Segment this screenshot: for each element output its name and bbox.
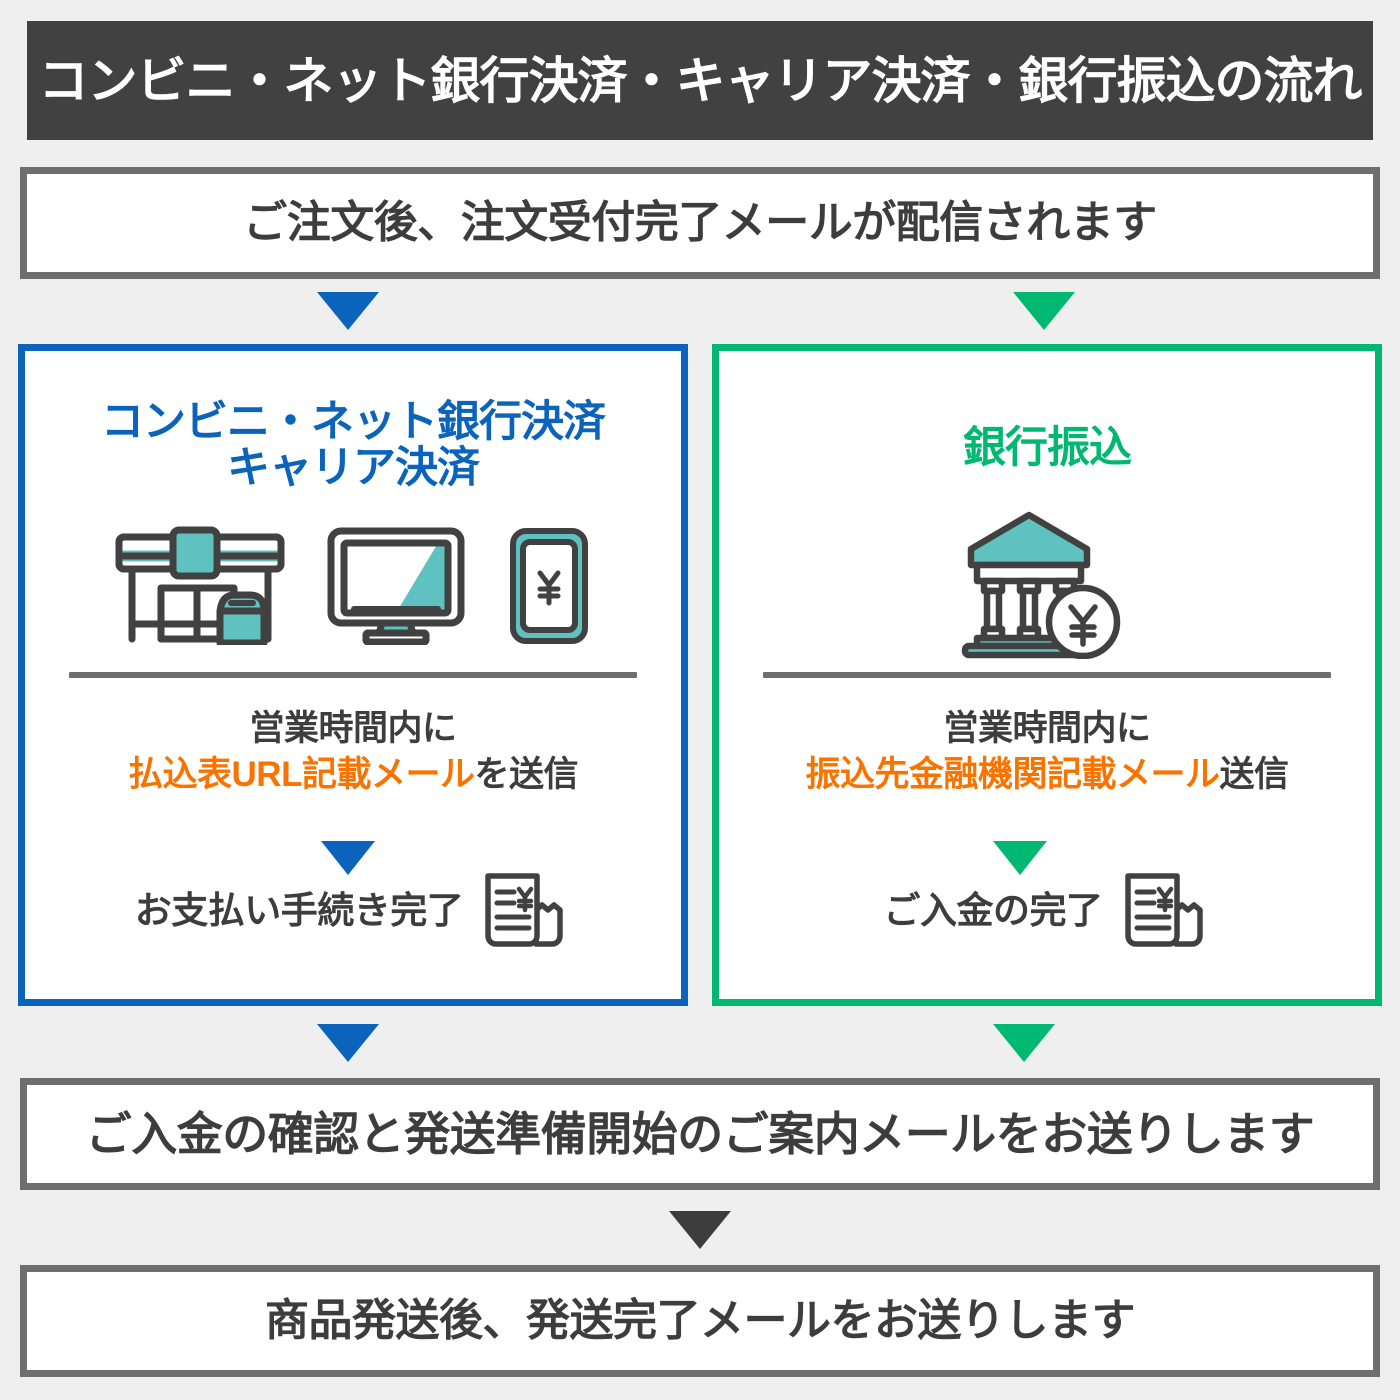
cvs-divider [69, 672, 637, 678]
step-payment-confirmed-label: ご入金の確認と発送準備開始のご案内メールをお送りします [86, 1111, 1315, 1157]
cvs-note-tail: を送信 [474, 755, 578, 794]
arrow-down-icon-cvs-to-confirm [317, 1024, 379, 1062]
bank-icon-row [719, 509, 1375, 659]
cvs-note-line1: 営業時間内に [25, 706, 681, 752]
step-shipped-label: 商品発送後、発送完了メールをお送りします [265, 1299, 1135, 1343]
panel-heading-bank: 銀行振込 [719, 425, 1375, 471]
panel-heading-cvs-line2: キャリア決済 [25, 445, 681, 491]
cvs-note-line2: 払込表URL記載メールを送信 [25, 752, 681, 798]
step-order-received: ご注文後、注文受付完了メールが配信されます [20, 167, 1380, 279]
bank-note: 営業時間内に 振込先金融機関記載メール送信 [719, 706, 1375, 798]
panel-heading-cvs: コンビニ・ネット銀行決済 キャリア決済 [25, 399, 681, 492]
bank-note-line2: 振込先金融機関記載メール送信 [719, 752, 1375, 798]
cvs-final-label: お支払い手続き完了 [135, 892, 464, 929]
bank-final-row: ご入金の完了 [719, 868, 1375, 952]
step-payment-confirmed: ご入金の確認と発送準備開始のご案内メールをお送りします [20, 1078, 1380, 1190]
panel-heading-bank-line1: 銀行振込 [719, 425, 1375, 471]
cvs-final-row: お支払い手続き完了 [25, 868, 681, 952]
arrow-down-icon-to-shipped [669, 1211, 731, 1249]
method-panel-convenience-store: コンビニ・ネット銀行決済 キャリア決済 [18, 344, 688, 1006]
arrow-down-icon-bank-step [993, 841, 1047, 875]
arrow-down-icon-cvs-step [321, 841, 375, 875]
bank-final-label: ご入金の完了 [884, 892, 1103, 929]
receipt-yen-icon [475, 868, 571, 952]
cvs-icon-row [25, 525, 681, 645]
cvs-note-highlight: 払込表URL記載メール [128, 755, 474, 794]
method-panel-bank-transfer: 銀行振込 [712, 344, 1382, 1006]
arrow-down-icon-to-bank [1013, 292, 1075, 330]
bank-note-highlight: 振込先金融機関記載メール [805, 755, 1219, 794]
bank-building-yen-icon [957, 509, 1137, 659]
payment-flow-diagram: コンビニ・ネット銀行決済・キャリア決済・銀行振込の流れ ご注文後、注文受付完了メ… [0, 0, 1400, 1400]
step-order-label: ご注文後、注文受付完了メールが配信されます [243, 201, 1157, 245]
convenience-store-icon [114, 525, 286, 645]
bank-note-line1: 営業時間内に [719, 706, 1375, 752]
smartphone-yen-icon [506, 525, 592, 645]
desktop-monitor-icon [326, 525, 466, 645]
arrow-down-icon-bank-to-confirm [993, 1024, 1055, 1062]
page-title: コンビニ・ネット銀行決済・キャリア決済・銀行振込の流れ [39, 56, 1362, 106]
cvs-note: 営業時間内に 払込表URL記載メールを送信 [25, 706, 681, 798]
bank-note-tail: 送信 [1220, 755, 1289, 794]
arrow-down-icon-to-cvs [317, 292, 379, 330]
receipt-yen-icon [1115, 868, 1211, 952]
step-shipped: 商品発送後、発送完了メールをお送りします [20, 1265, 1380, 1377]
bank-divider [763, 672, 1331, 678]
panel-heading-cvs-line1: コンビニ・ネット銀行決済 [25, 399, 681, 445]
diagram-header: コンビニ・ネット銀行決済・キャリア決済・銀行振込の流れ [27, 21, 1373, 140]
